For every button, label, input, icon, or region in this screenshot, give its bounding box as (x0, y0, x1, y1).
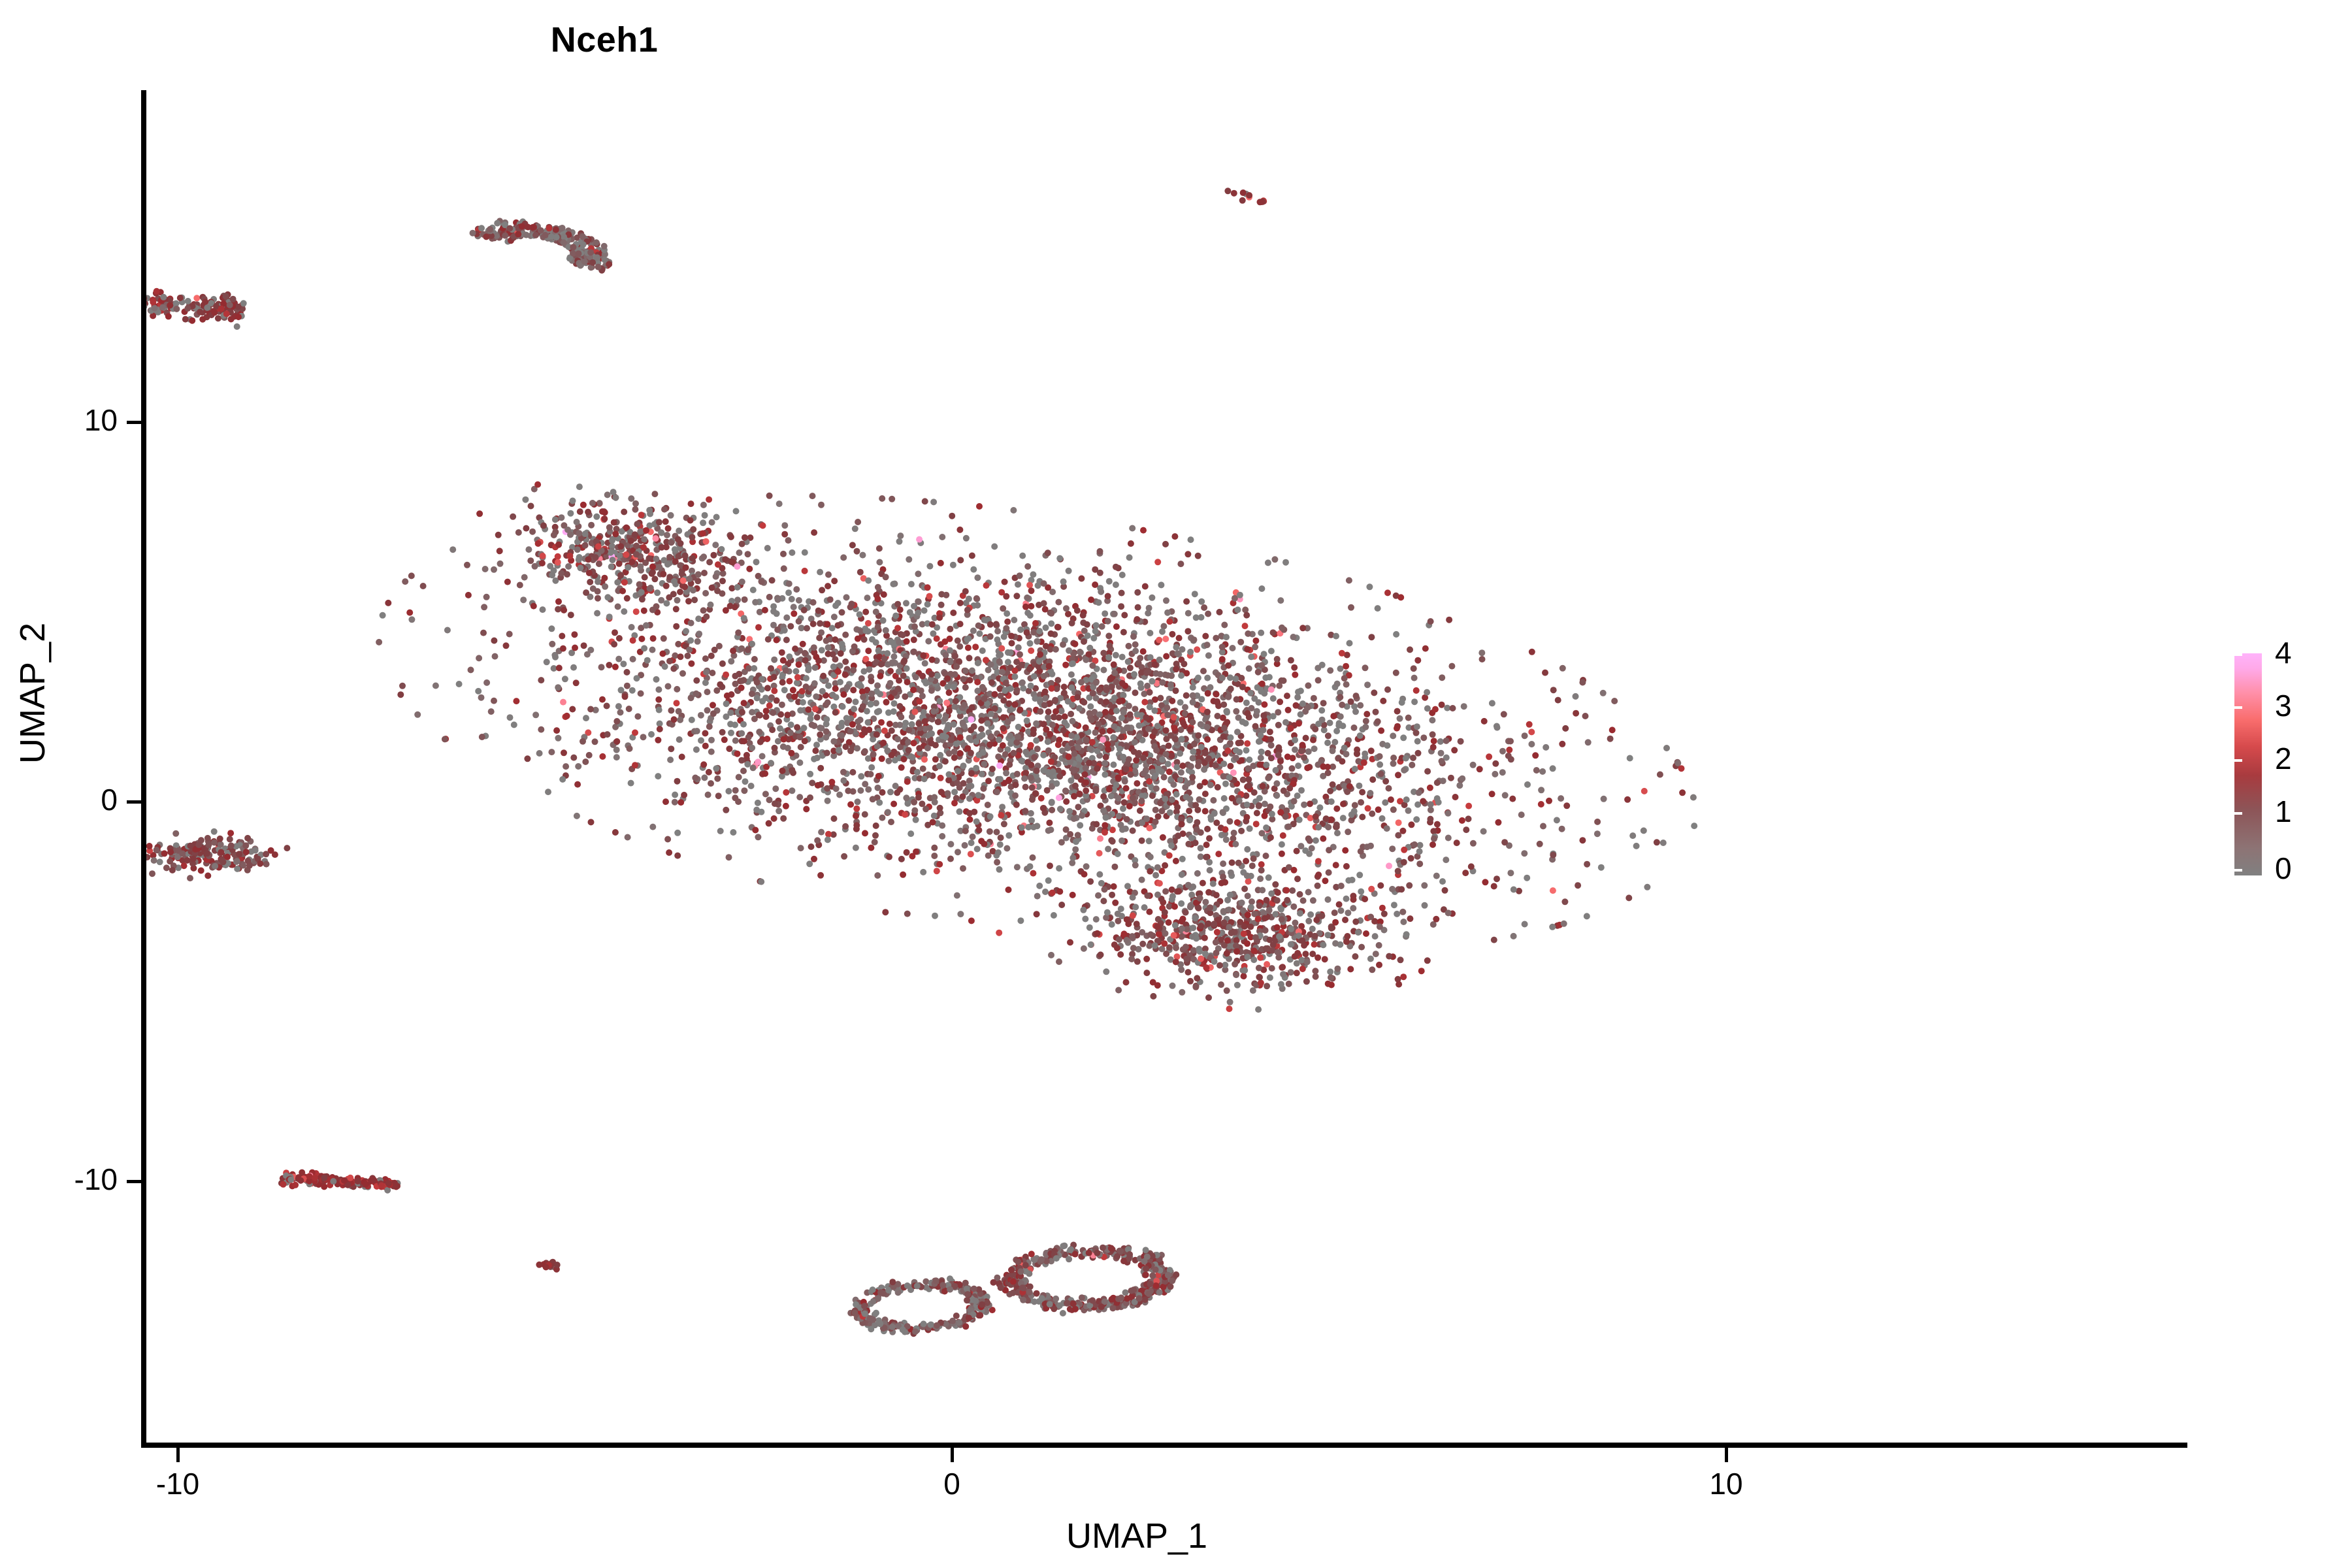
colorbar-label-4: 4 (2275, 638, 2292, 668)
x-ticklabel--10: -10 (112, 1469, 243, 1499)
colorbar-label-0: 0 (2275, 853, 2292, 883)
colorbar-gradient (2234, 653, 2262, 875)
umap-feature-plot: Nceh1 10 0 -10 -10 0 10 UMAP_2 UMAP_1 4 … (0, 0, 2352, 1568)
colorbar-label-2: 2 (2275, 743, 2292, 774)
colorbar-tick-3-right (2227, 706, 2234, 709)
y-tick-0 (127, 800, 141, 804)
colorbar-tick-4-left (2234, 653, 2242, 656)
x-tick--10 (176, 1448, 180, 1462)
colorbar-tick-4-right (2227, 653, 2234, 656)
colorbar-tick-2-right (2227, 759, 2234, 762)
colorbar-tick-3-left (2234, 706, 2242, 709)
y-axis-label: UMAP_2 (12, 523, 53, 863)
x-ticklabel-10: 10 (1661, 1469, 1791, 1499)
y-ticklabel--10: -10 (0, 1164, 118, 1194)
colorbar-tick-0-right (2227, 869, 2234, 872)
colorbar-tick-1-right (2227, 812, 2234, 815)
x-axis-label: UMAP_1 (0, 1516, 2274, 1556)
x-axis-line (141, 1443, 2187, 1448)
colorbar-label-3: 3 (2275, 691, 2292, 721)
y-tick-10 (127, 421, 141, 424)
y-ticklabel-10: 10 (0, 405, 118, 435)
x-ticklabel-0: 0 (887, 1469, 1017, 1499)
y-axis-line (141, 90, 146, 1446)
x-tick-10 (1725, 1448, 1728, 1462)
colorbar-tick-0-left (2234, 869, 2242, 872)
colorbar-tick-2-left (2234, 759, 2242, 762)
scatter-points-layer (144, 85, 2189, 1444)
x-tick-0 (951, 1448, 954, 1462)
colorbar-tick-1-left (2234, 812, 2242, 815)
page-title: Nceh1 (0, 20, 2352, 60)
plot-panel (144, 85, 2189, 1444)
y-tick--10 (127, 1180, 141, 1183)
colorbar-label-1: 1 (2275, 796, 2292, 826)
